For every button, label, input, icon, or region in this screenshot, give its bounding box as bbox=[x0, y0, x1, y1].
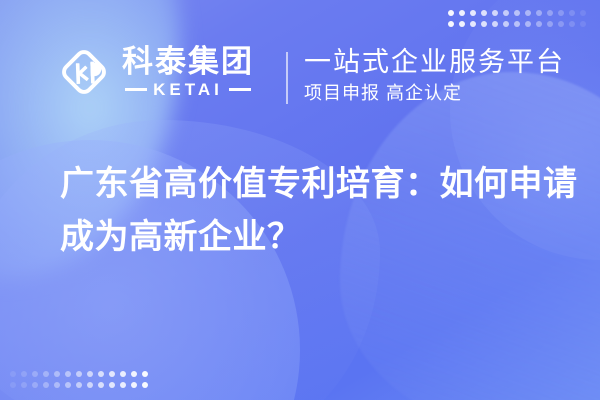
dot bbox=[503, 21, 509, 27]
logo-company-name-cn: 科泰集团 bbox=[122, 46, 254, 79]
tagline-main: 一站式企业服务平台 bbox=[304, 46, 565, 79]
dot bbox=[569, 21, 575, 27]
dot bbox=[76, 382, 82, 388]
dot-row bbox=[448, 10, 586, 16]
dot bbox=[547, 10, 553, 16]
dot bbox=[536, 10, 542, 16]
dot bbox=[514, 10, 520, 16]
page-title-line-1: 广东省高价值专利培育：如何申请 bbox=[60, 158, 560, 211]
logo-wordmark: 科泰集团 KETAI bbox=[122, 46, 254, 99]
dot bbox=[54, 371, 60, 377]
dot bbox=[21, 382, 27, 388]
logo-company-name-en: KETAI bbox=[153, 81, 223, 98]
dot-row bbox=[10, 382, 148, 388]
tagline-block: 一站式企业服务平台 项目申报 高企认定 bbox=[304, 46, 565, 105]
dot-grid-bottom-left bbox=[10, 371, 148, 388]
logo-lockup: 科泰集团 KETAI bbox=[56, 44, 254, 100]
dot bbox=[492, 21, 498, 27]
logo-en-row: KETAI bbox=[125, 81, 251, 98]
dot bbox=[65, 371, 71, 377]
dot bbox=[142, 382, 148, 388]
promo-banner: 科泰集团 KETAI 一站式企业服务平台 项目申报 高企认定 广东省高价值专利培… bbox=[0, 0, 600, 400]
dot bbox=[43, 382, 49, 388]
logo-dash-right-icon bbox=[229, 88, 251, 91]
dot bbox=[87, 382, 93, 388]
dot bbox=[525, 10, 531, 16]
dot bbox=[481, 10, 487, 16]
dot bbox=[87, 371, 93, 377]
dot bbox=[547, 21, 553, 27]
dot bbox=[558, 10, 564, 16]
dot bbox=[109, 371, 115, 377]
dot bbox=[120, 382, 126, 388]
dot bbox=[142, 371, 148, 377]
dot bbox=[503, 10, 509, 16]
dot bbox=[98, 382, 104, 388]
dot bbox=[481, 21, 487, 27]
dot bbox=[109, 382, 115, 388]
ketai-logo-icon bbox=[56, 44, 112, 100]
dot bbox=[459, 10, 465, 16]
dot bbox=[536, 21, 542, 27]
dot bbox=[470, 10, 476, 16]
dot-row bbox=[10, 371, 148, 377]
dot-grid-top-right bbox=[448, 10, 586, 27]
dot bbox=[492, 10, 498, 16]
logo-dash-left-icon bbox=[125, 88, 147, 91]
page-title-line-2: 成为高新企业？ bbox=[60, 211, 560, 264]
dot bbox=[569, 10, 575, 16]
dot bbox=[21, 371, 27, 377]
dot bbox=[32, 371, 38, 377]
dot bbox=[558, 21, 564, 27]
dot bbox=[98, 371, 104, 377]
dot bbox=[580, 10, 586, 16]
dot bbox=[448, 10, 454, 16]
dot bbox=[120, 371, 126, 377]
dot bbox=[470, 21, 476, 27]
dot bbox=[459, 21, 465, 27]
dot bbox=[65, 382, 71, 388]
dot bbox=[10, 371, 16, 377]
dot bbox=[131, 382, 137, 388]
page-title: 广东省高价值专利培育：如何申请 成为高新企业？ bbox=[60, 158, 560, 263]
vertical-divider bbox=[286, 52, 288, 104]
dot bbox=[10, 382, 16, 388]
dot bbox=[448, 21, 454, 27]
dot bbox=[43, 371, 49, 377]
tagline-sub: 项目申报 高企认定 bbox=[304, 82, 565, 105]
dot bbox=[131, 371, 137, 377]
dot-row bbox=[448, 21, 586, 27]
dot bbox=[525, 21, 531, 27]
dot bbox=[580, 21, 586, 27]
dot bbox=[76, 371, 82, 377]
dot bbox=[514, 21, 520, 27]
dot bbox=[32, 382, 38, 388]
dot bbox=[54, 382, 60, 388]
